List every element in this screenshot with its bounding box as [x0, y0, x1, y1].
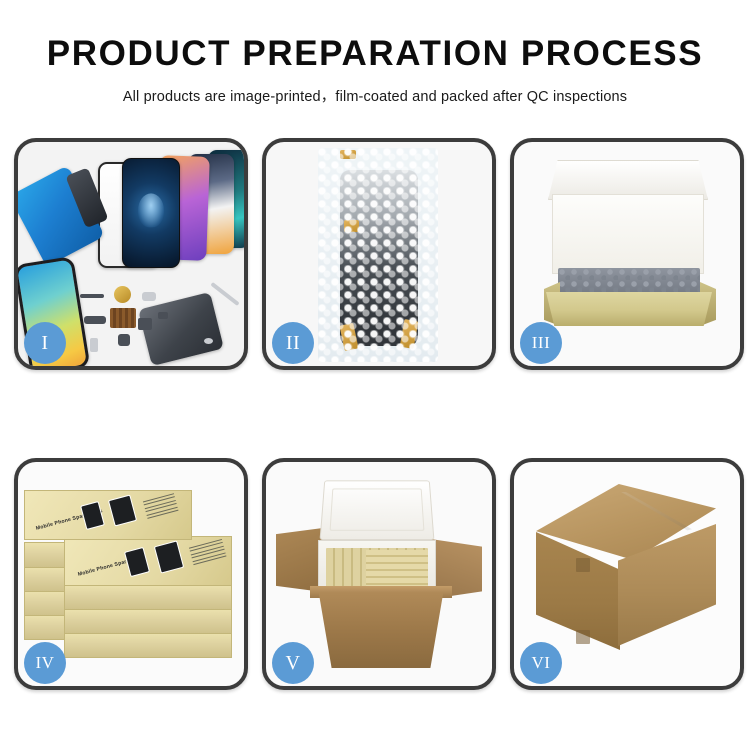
step-badge-2: II [272, 322, 314, 364]
retail-box-labelled-front: Mobile Phone Spare Parts [64, 536, 232, 586]
retail-box-right-3 [64, 584, 232, 610]
phone-adhesive-back-blue [14, 165, 105, 267]
process-step-card-4: Mobile Phone Spare Parts Mobile Phone Sp… [14, 458, 248, 690]
process-step-card-3: III [510, 138, 744, 370]
page-title: PRODUCT PREPARATION PROCESS [0, 36, 750, 73]
retail-box-labelled-top: Mobile Phone Spare Parts [24, 490, 192, 540]
process-step-card-5: V [262, 458, 496, 690]
step-badge-6: VI [520, 642, 562, 684]
process-step-card-2: II [262, 138, 496, 370]
process-step-grid: I II [14, 138, 736, 690]
spare-part-flex-cable-2 [84, 316, 106, 324]
page-subtitle: All products are image-printed，film-coat… [0, 85, 750, 106]
phone-screen-dark-blue [122, 158, 180, 268]
page-header: PRODUCT PREPARATION PROCESS All products… [0, 0, 750, 106]
spare-part-gold-coil [114, 286, 131, 303]
retail-box-right-4 [64, 608, 232, 634]
retail-box-stack: Mobile Phone Spare Parts Mobile Phone Sp… [24, 484, 238, 672]
step-badge-5: V [272, 642, 314, 684]
spare-part-button-set [158, 312, 168, 319]
box-front-panel [546, 292, 712, 326]
packed-yellow-boxes-right [366, 550, 428, 590]
process-step-card-6: VI [510, 458, 744, 690]
carton-tab-upper [576, 558, 590, 572]
step-badge-3: III [520, 322, 562, 364]
spare-part-speaker [138, 318, 152, 330]
spare-part-sim-tray [90, 338, 98, 352]
spare-part-camera-module [142, 292, 156, 301]
carton-tab-lower [576, 630, 590, 644]
foam-case-lid [320, 480, 435, 540]
step-badge-4: IV [24, 642, 66, 684]
box-foam-liner-back [552, 194, 704, 274]
product-preparation-page: PRODUCT PREPARATION PROCESS All products… [0, 0, 750, 750]
process-step-card-1: I [14, 138, 248, 370]
spare-part-screws [204, 338, 213, 344]
bubble-wrap-texture-back [318, 148, 438, 362]
carton-body [316, 592, 446, 668]
step-badge-1: I [24, 322, 66, 364]
spare-part-vibrator [118, 334, 130, 346]
spare-part-logic-board [110, 308, 136, 328]
spare-part-tweezers [210, 282, 239, 306]
bubble-wrap-bag [318, 148, 438, 362]
retail-box-right-5 [64, 632, 232, 658]
spare-part-flex-cable-1 [80, 294, 104, 298]
